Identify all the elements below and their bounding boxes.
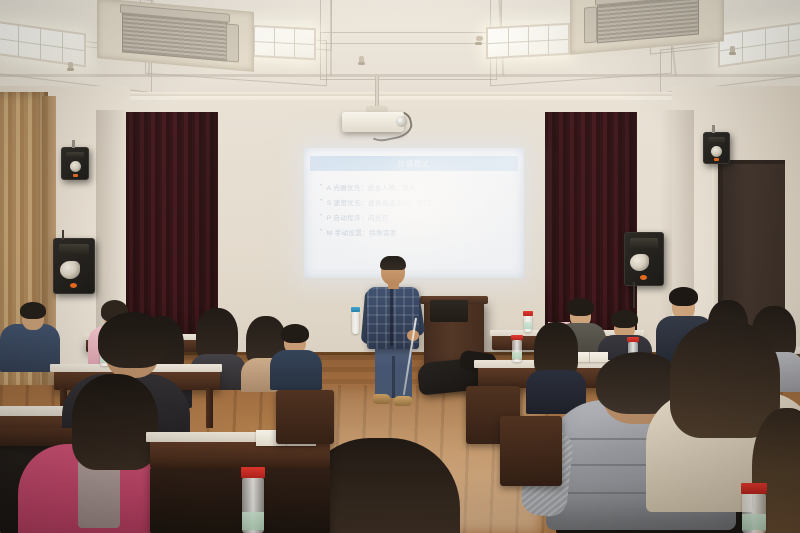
attendee-hair: [20, 302, 46, 319]
attendee-hair: [611, 310, 638, 328]
lecture-room-photo: 拍摄模式 • A 光圈优先：适合人物、风光 • S 速度优先：适合高速运动、赛门…: [0, 0, 800, 533]
projector-lens-icon: [396, 116, 407, 127]
bottle-cap: [523, 311, 533, 316]
bottle-label: [524, 322, 532, 329]
speaker-cable: [62, 230, 64, 240]
attendee-hair: [567, 298, 594, 316]
speaker-bracket: [712, 125, 715, 133]
notebook-spine: [589, 352, 590, 362]
speaker-cable: [633, 282, 635, 308]
wall-speaker-lower-right: [624, 232, 664, 286]
bottle-label: [242, 512, 264, 530]
attendee-hair: [281, 324, 309, 343]
ceiling-light-fixture: [486, 23, 570, 59]
projector-mount-pole: [375, 76, 379, 110]
sprinkler-head: [68, 62, 73, 70]
presenter-shirt-placket: [390, 288, 393, 346]
chair-aisle-left: [276, 390, 334, 444]
sprinkler-head: [359, 56, 364, 64]
bottle-cap: [351, 307, 360, 312]
bottle-cap: [627, 337, 639, 342]
speaker-bracket: [72, 140, 75, 148]
water-bottle: [742, 494, 766, 533]
water-bottle: [242, 478, 264, 533]
presenter-shoe-left: [373, 394, 391, 404]
bottle-cap: [241, 467, 265, 478]
wall-speaker-upper-left: [61, 147, 89, 180]
water-bottle: [524, 316, 532, 332]
attendee-hair: [98, 312, 168, 368]
smoke-detector-icon: [476, 36, 483, 41]
bottle-cap: [511, 335, 523, 340]
attendee-hair: [72, 374, 158, 470]
ceiling-projector: [342, 112, 404, 132]
water-bottle: [512, 340, 522, 362]
bottle-label: [742, 514, 766, 530]
desk-leg: [206, 388, 213, 428]
bottle-label: [512, 352, 522, 359]
presenter-hair: [380, 256, 406, 270]
wall-speaker-upper-right: [703, 132, 730, 164]
presenter-shoe-right: [393, 396, 412, 406]
water-bottle: [352, 312, 359, 334]
wall-speaker-lower-left: [53, 238, 95, 294]
sprinkler-head: [730, 46, 735, 54]
attendee-hair: [669, 287, 698, 306]
attendee-torso: [270, 350, 322, 390]
bottle-cap: [741, 483, 767, 494]
lectern-monitor: [430, 300, 468, 322]
desk-row-front-center: [150, 468, 330, 533]
presenter-leg-seam: [392, 356, 395, 398]
chair-aisle-right-2: [500, 416, 562, 486]
